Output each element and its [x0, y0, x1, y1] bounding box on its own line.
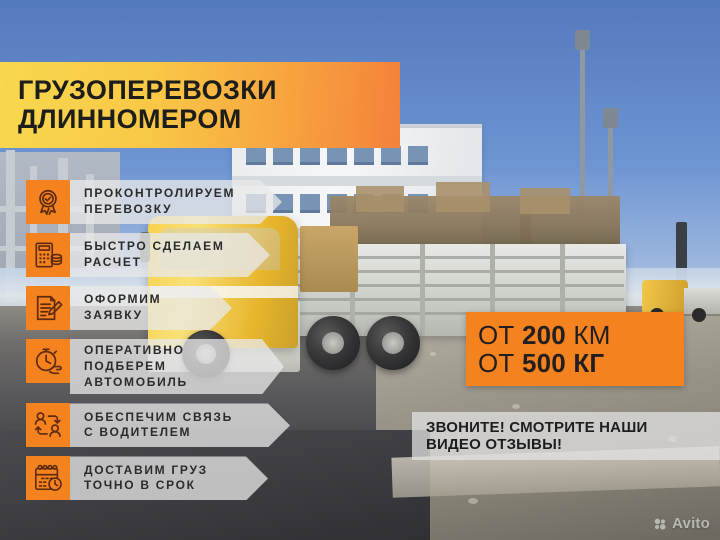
advertisement-poster: ГРУЗОПЕРЕВОЗКИ ДЛИННОМЕРОМ ПРОКОНТРОЛИРУ… — [0, 0, 720, 540]
feature-line: ОФОРМИМ — [84, 292, 198, 308]
feature-item-control-shipment: ПРОКОНТРОЛИРУЕМ ПЕРЕВОЗКУ — [26, 180, 290, 224]
feature-line: ДОСТАВИМ ГРУЗ — [84, 463, 234, 479]
feature-list: ПРОКОНТРОЛИРУЕМ ПЕРЕВОЗКУ — [26, 180, 290, 509]
window — [273, 146, 293, 165]
feature-line: ОБЕСПЕЧИМ СВЯЗЬ — [84, 410, 256, 426]
feature-label: ОБЕСПЕЧИМ СВЯЗЬ С ВОДИТЕЛЕМ — [70, 403, 290, 447]
avito-watermark-label: Avito — [672, 515, 710, 532]
price-distance-prefix: ОТ — [478, 320, 522, 350]
price-banner: ОТ 200 КМ ОТ 500 КГ — [466, 312, 684, 386]
cargo-crate — [520, 188, 570, 214]
price-distance-line: ОТ 200 КМ — [478, 321, 684, 349]
window — [246, 146, 266, 165]
headline-line-2: ДЛИННОМЕРОМ — [18, 105, 400, 134]
call-to-action-banner: ЗВОНИТЕ! СМОТРИТЕ НАШИ ВИДЕО ОТЗЫВЫ! — [412, 412, 720, 460]
truck-toolbox — [300, 226, 358, 292]
headline-line-1: ГРУЗОПЕРЕВОЗКИ — [18, 76, 400, 105]
feature-label: ПРОКОНТРОЛИРУЕМ ПЕРЕВОЗКУ — [70, 180, 282, 224]
feature-label: ДОСТАВИМ ГРУЗ ТОЧНО В СРОК — [70, 456, 268, 500]
gravel-speck — [468, 498, 478, 504]
award-medal-icon — [26, 180, 70, 224]
gravel-speck — [430, 352, 436, 356]
second-truck-wheel — [692, 308, 706, 322]
gravel-speck — [512, 404, 520, 409]
flatbed-slat — [298, 298, 624, 301]
window — [354, 146, 374, 165]
flatbed-post — [420, 244, 425, 336]
document-pencil-icon — [26, 286, 70, 330]
window — [408, 146, 428, 165]
building-window-row — [246, 146, 428, 165]
feature-line: АВТОМОБИЛЬ — [84, 375, 250, 391]
truck-wheel — [306, 316, 360, 370]
feature-line: ЗАЯВКУ — [84, 308, 198, 324]
feature-line: ПРОКОНТРОЛИРУЕМ — [84, 186, 248, 202]
feature-item-process-order: ОФОРМИМ ЗАЯВКУ — [26, 286, 290, 330]
price-weight-value: 500 КГ — [522, 348, 604, 378]
feature-line: ПОДБЕРЕМ — [84, 359, 250, 375]
cta-line-1: ЗВОНИТЕ! СМОТРИТЕ НАШИ — [426, 419, 720, 436]
calculator-coins-icon — [26, 233, 70, 277]
feature-item-driver-contact: ОБЕСПЕЧИМ СВЯЗЬ С ВОДИТЕЛЕМ — [26, 403, 290, 447]
calendar-clock-icon — [26, 456, 70, 500]
price-distance-value: 200 — [522, 320, 566, 350]
feature-line: С ВОДИТЕЛЕМ — [84, 425, 256, 441]
cargo-crate — [356, 186, 404, 212]
feature-item-fast-quote: БЫСТРО СДЕЛАЕМ РАСЧЕТ — [26, 233, 290, 277]
price-distance-unit: КМ — [566, 320, 611, 350]
people-exchange-icon — [26, 403, 70, 447]
price-weight-prefix: ОТ — [478, 348, 522, 378]
second-truck-cab — [642, 280, 688, 314]
feature-line: РАСЧЕТ — [84, 255, 236, 271]
truck-wheel — [366, 316, 420, 370]
feature-item-select-vehicle: ОПЕРАТИВНО ПОДБЕРЕМ АВТОМОБИЛЬ — [26, 339, 290, 394]
cta-line-2: ВИДЕО ОТЗЫВЫ! — [426, 436, 720, 453]
feature-label: ОФОРМИМ ЗАЯВКУ — [70, 286, 232, 330]
feature-line: БЫСТРО СДЕЛАЕМ — [84, 239, 236, 255]
feature-line: ПЕРЕВОЗКУ — [84, 202, 248, 218]
price-weight-line: ОТ 500 КГ — [478, 349, 684, 377]
stopwatch-hand-icon — [26, 339, 70, 383]
avito-watermark: Avito — [653, 515, 710, 532]
headline-banner: ГРУЗОПЕРЕВОЗКИ ДЛИННОМЕРОМ — [0, 62, 400, 148]
feature-line: ОПЕРАТИВНО — [84, 343, 250, 359]
window — [381, 146, 401, 165]
window — [327, 146, 347, 165]
avito-logo-icon — [653, 517, 667, 531]
feature-label: ОПЕРАТИВНО ПОДБЕРЕМ АВТОМОБИЛЬ — [70, 339, 284, 394]
cargo-crate — [436, 182, 490, 212]
feature-item-on-time-delivery: ДОСТАВИМ ГРУЗ ТОЧНО В СРОК — [26, 456, 290, 500]
feature-line: ТОЧНО В СРОК — [84, 478, 234, 494]
window — [300, 146, 320, 165]
feature-label: БЫСТРО СДЕЛАЕМ РАСЧЕТ — [70, 233, 270, 277]
window — [300, 194, 320, 213]
